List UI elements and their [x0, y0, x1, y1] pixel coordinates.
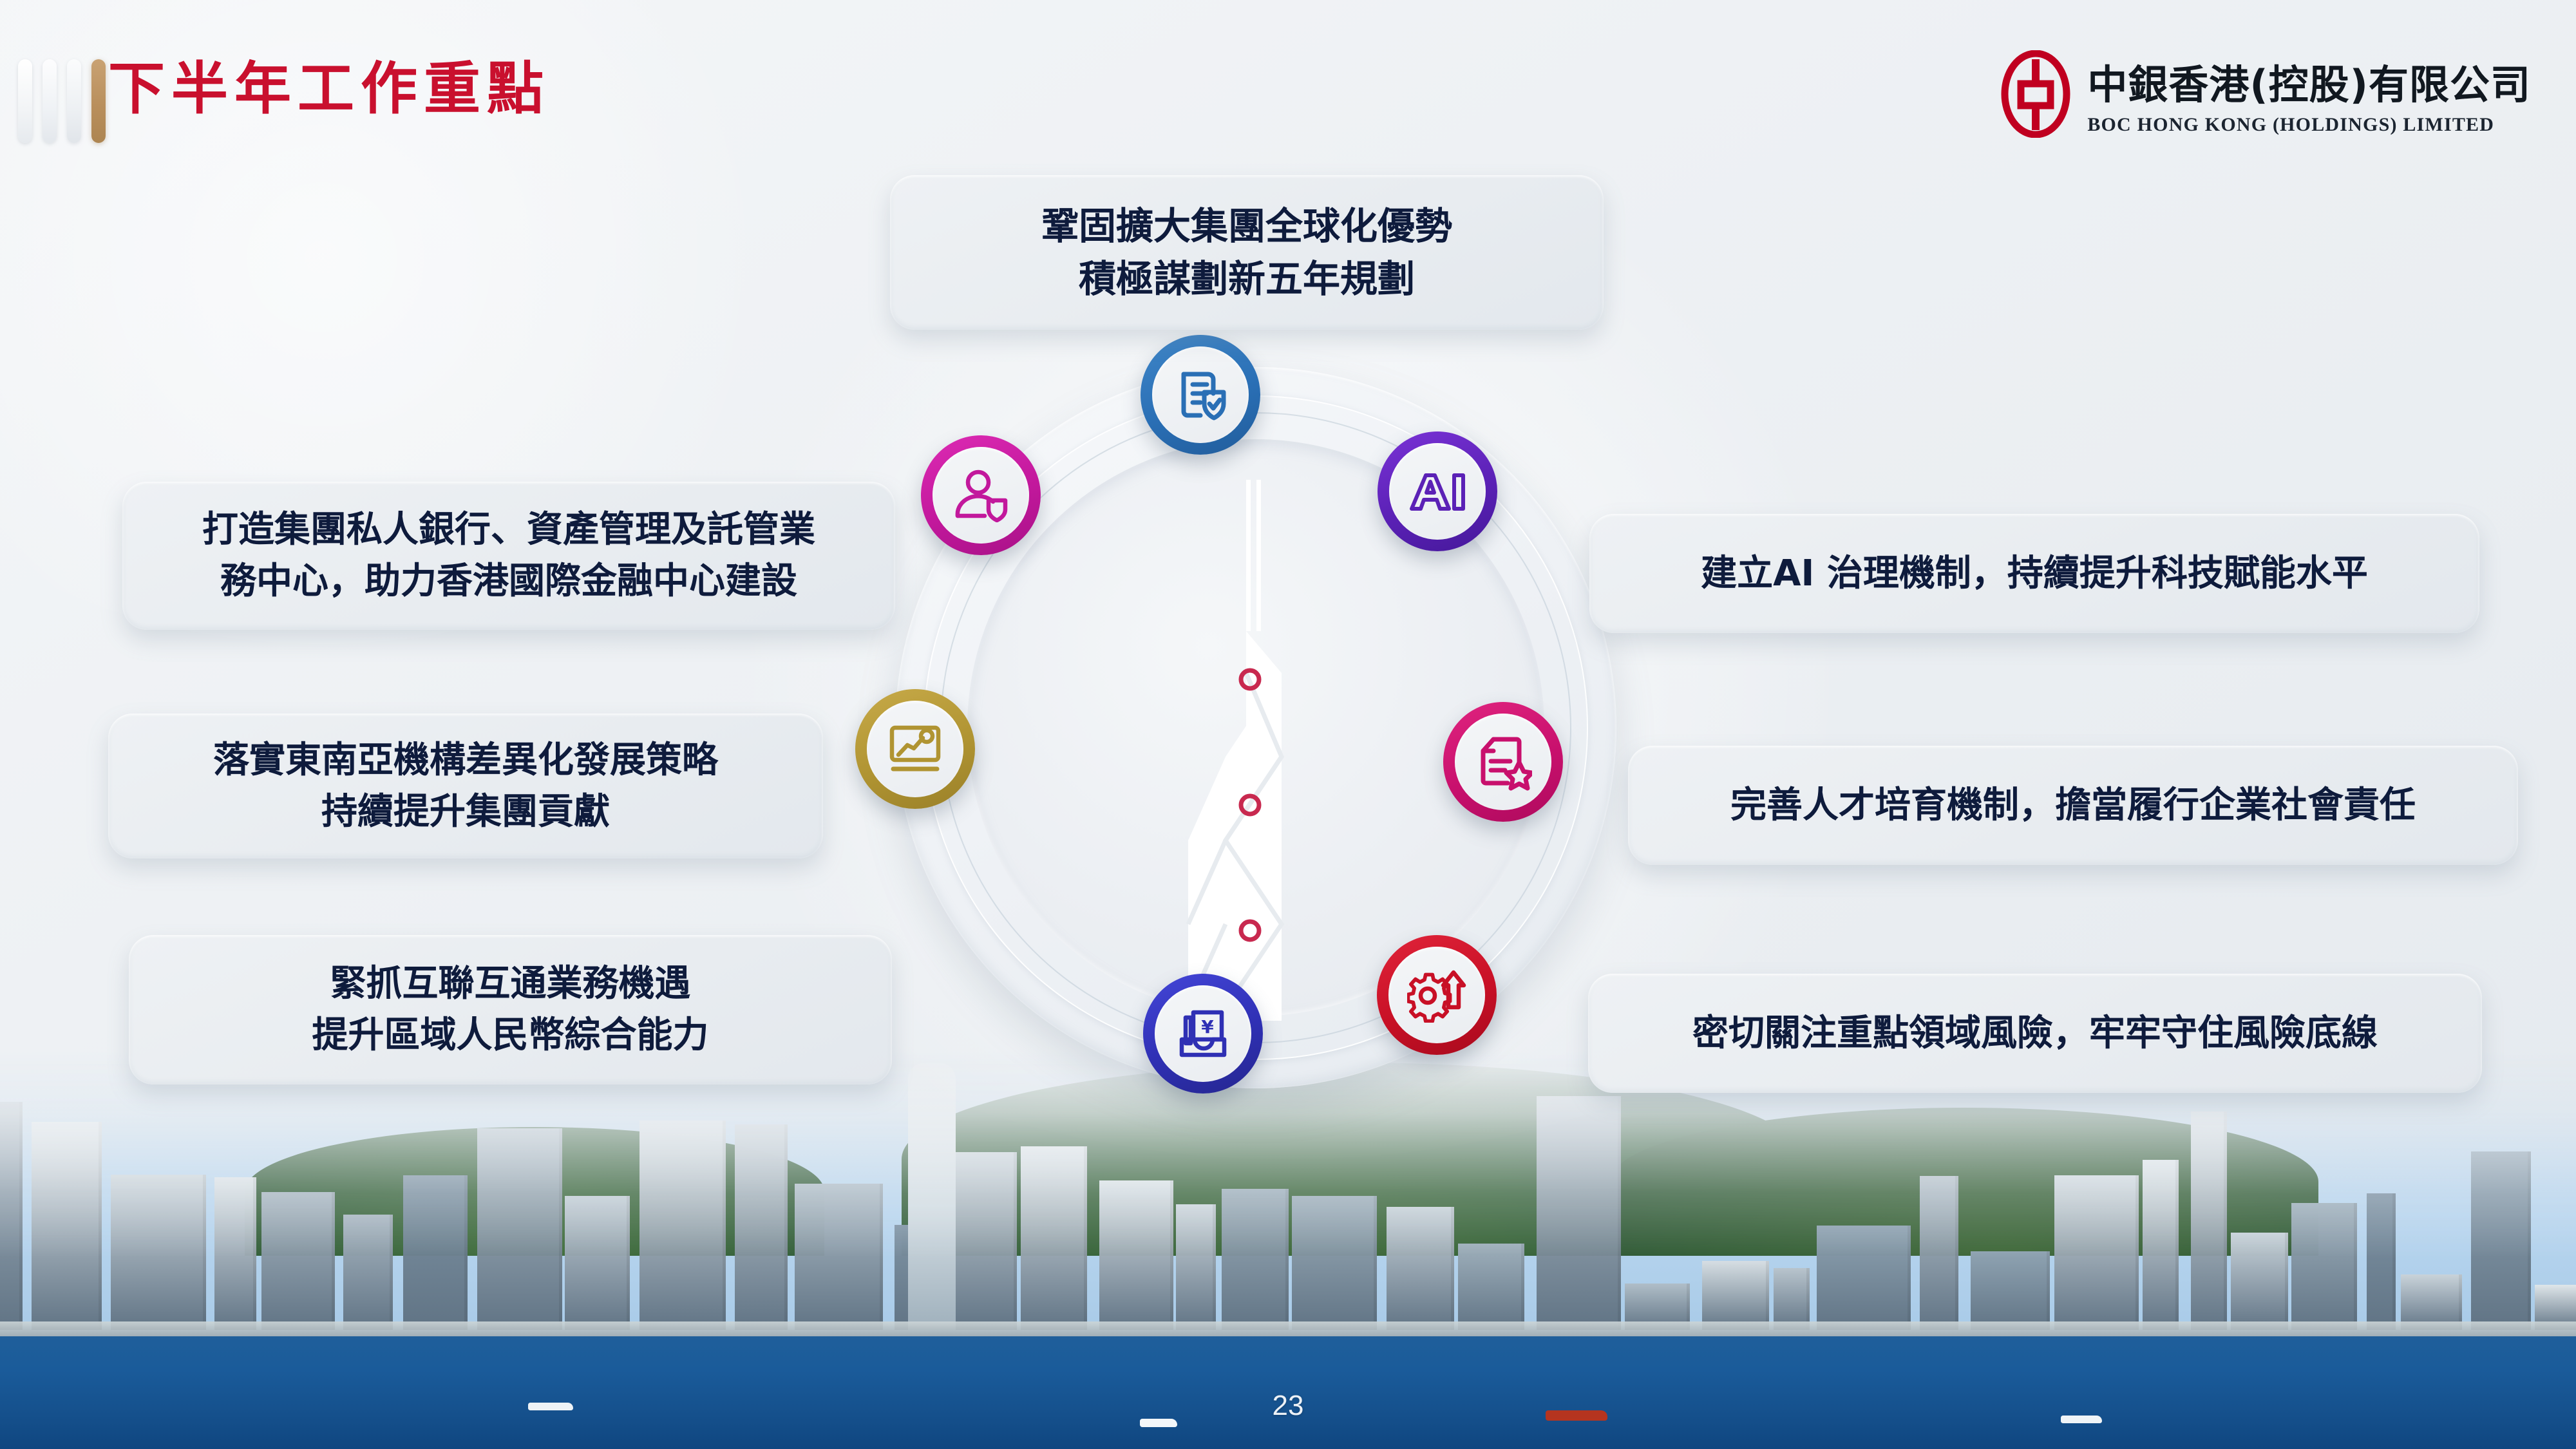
skyline-building: [1920, 1176, 1958, 1330]
skyline-building: [1222, 1189, 1289, 1330]
skyline-building: [1021, 1146, 1087, 1330]
person-shield-icon: [951, 468, 1010, 522]
skyline-photo: 23: [0, 1050, 2576, 1449]
badge-certificate-star[interactable]: [1443, 702, 1563, 822]
card-left-3-line1: 緊抓互聯互通業務機遇: [290, 958, 731, 1010]
skyline-building: [1537, 1096, 1621, 1330]
card-right-3-line1: 密切關注重點領域風險，牢牢守住風險底線: [1671, 1008, 2400, 1059]
badge-inner: [933, 447, 1029, 544]
skyline-building: [795, 1184, 883, 1330]
skyline-building: [1387, 1207, 1454, 1330]
harbour-boat: [1546, 1410, 1607, 1421]
skyline-building: [1774, 1268, 1810, 1330]
decor-bar: [18, 59, 32, 143]
decor-bar-gold: [91, 59, 106, 143]
card-right-2[interactable]: 完善人才培育機制，擔當履行企業社會責任: [1628, 746, 2518, 865]
skyline-building: [32, 1122, 102, 1330]
skyline-building: [477, 1128, 562, 1330]
certificate-star-icon: [1474, 733, 1532, 791]
skyline-building: [2231, 1233, 2288, 1330]
card-top-line2: 積極謀劃新五年規劃: [1019, 252, 1474, 305]
page-number: 23: [1273, 1390, 1304, 1422]
badge-person-shield[interactable]: [921, 435, 1041, 555]
card-top-line1: 鞏固擴大集團全球化優勢: [1019, 200, 1474, 252]
skyline-tall-tower: [908, 1063, 956, 1330]
logo-text-block: 中銀香港(控股)有限公司 BOC HONG KONG (HOLDINGS) LI…: [2087, 52, 2531, 136]
skyline-building: [1292, 1196, 1377, 1330]
badge-gear-arrow-up[interactable]: [1377, 935, 1497, 1055]
growth-chart-board-icon: [885, 724, 945, 774]
badge-inner: [867, 701, 963, 797]
skyline-building: [639, 1121, 726, 1330]
skyline-building: [565, 1196, 630, 1330]
skyline-building: [1971, 1251, 2050, 1330]
decor-bar: [43, 59, 57, 143]
skyline-building: [111, 1175, 206, 1330]
rmb-tray-icon: ¥: [1174, 1006, 1232, 1061]
card-left-2-line2: 持續提升集團貢獻: [191, 786, 740, 838]
skyline-building: [2291, 1203, 2357, 1330]
document-shield-check-icon: [1171, 365, 1230, 424]
skyline-building: [2471, 1151, 2531, 1330]
badge-inner: [1455, 714, 1551, 810]
card-top[interactable]: 鞏固擴大集團全球化優勢 積極謀劃新五年規劃: [890, 175, 1604, 330]
bank-of-china-tower-icon: [1150, 480, 1362, 1021]
skyline-building: [214, 1177, 256, 1330]
harbour-boat: [2061, 1416, 2102, 1423]
company-logo: 中銀香港(控股)有限公司 BOC HONG KONG (HOLDINGS) LI…: [2001, 50, 2531, 138]
title-decorative-bars: [18, 59, 106, 143]
skyline-building: [1176, 1204, 1216, 1330]
svg-text:¥: ¥: [1201, 1016, 1214, 1037]
logo-name-en: BOC HONG KONG (HOLDINGS) LIMITED: [2087, 114, 2531, 136]
badge-rmb-tray[interactable]: ¥: [1143, 974, 1263, 1094]
card-left-2[interactable]: 落實東南亞機構差異化發展策略 持續提升集團貢獻: [108, 714, 823, 858]
card-left-3-line2: 提升區域人民幣綜合能力: [290, 1010, 731, 1061]
logo-name-cn: 中銀香港(控股)有限公司: [2087, 52, 2531, 110]
skyline-building: [0, 1102, 23, 1330]
decor-bar: [67, 59, 81, 143]
skyline-building: [261, 1192, 335, 1330]
skyline-building: [2143, 1160, 2179, 1330]
central-hub: ¥: [895, 367, 1616, 1088]
skyline-building: [1458, 1244, 1524, 1330]
badge-inner: [1388, 947, 1485, 1043]
skyline-building: [1817, 1226, 1911, 1330]
skyline-building: [1702, 1261, 1769, 1330]
boc-emblem-icon: [2001, 50, 2070, 138]
card-left-2-line1: 落實東南亞機構差異化發展策略: [191, 735, 740, 786]
ai-letters-icon: [1406, 469, 1468, 514]
skyline-building: [735, 1124, 788, 1330]
skyline-building: [954, 1152, 1017, 1330]
skyline-building: [343, 1215, 393, 1330]
skyline-building: [2054, 1175, 2139, 1330]
harbour-boat: [528, 1403, 573, 1410]
slide-root: 23 下半年工作重點 中銀香港(控股)有限公司 BOC HONG KONG (H…: [0, 0, 2576, 1449]
card-left-1-line2: 務中心，助力香港國際金融中心建設: [180, 556, 837, 607]
card-right-2-line1: 完善人才培育機制，擔當履行企業社會責任: [1709, 780, 2438, 831]
card-left-1-line1: 打造集團私人銀行、資產管理及託管業: [180, 504, 837, 556]
card-right-1[interactable]: 建立AI 治理機制，持續提升科技賦能水平: [1589, 514, 2479, 633]
skyline-building: [2191, 1112, 2227, 1330]
badge-inner: ¥: [1155, 985, 1251, 1082]
skyline-building: [403, 1175, 468, 1330]
card-left-3[interactable]: 緊抓互聯互通業務機遇 提升區域人民幣綜合能力: [129, 935, 892, 1084]
skyline-buildings: [0, 1059, 2576, 1330]
badge-document-shield-check[interactable]: [1141, 335, 1260, 455]
harbour-boat: [1140, 1419, 1177, 1427]
skyline-building: [2367, 1193, 2396, 1330]
skyline-building: [1099, 1180, 1173, 1330]
badge-inner: [1389, 443, 1486, 540]
badge-inner: [1152, 346, 1249, 443]
badge-growth-chart[interactable]: [855, 689, 975, 809]
card-left-1[interactable]: 打造集團私人銀行、資產管理及託管業 務中心，助力香港國際金融中心建設: [122, 482, 895, 630]
card-right-1-line1: 建立AI 治理機制，持續提升科技賦能水平: [1679, 548, 2390, 600]
card-right-3[interactable]: 密切關注重點領域風險，牢牢守住風險底線: [1588, 974, 2482, 1093]
page-title: 下半年工作重點: [108, 55, 550, 122]
gear-arrow-up-icon: [1407, 967, 1466, 1023]
badge-ai[interactable]: [1378, 431, 1497, 551]
